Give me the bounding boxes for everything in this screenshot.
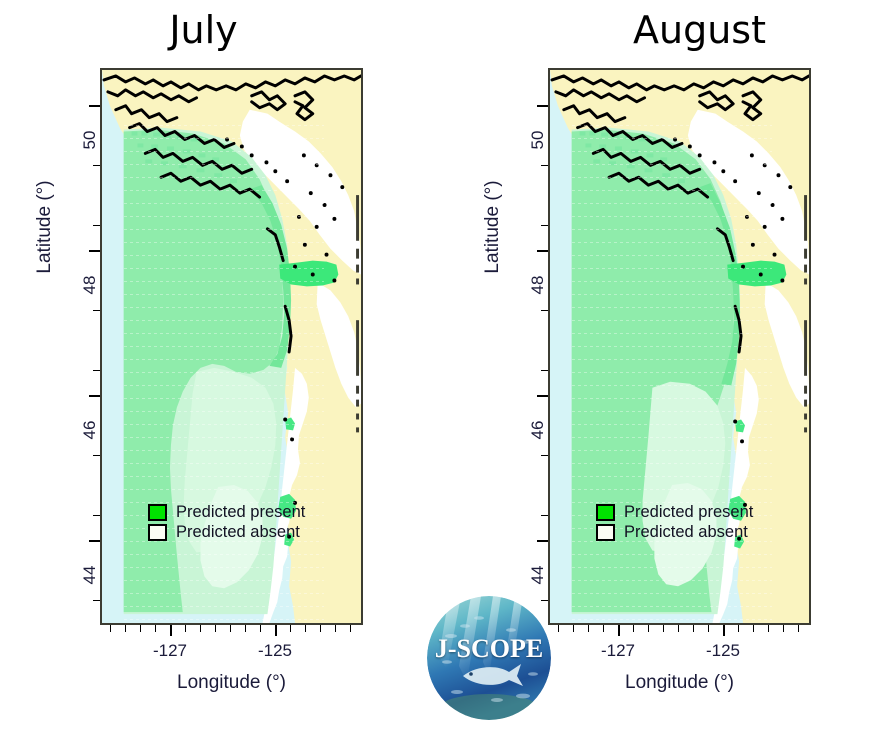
x-tick-minor <box>245 625 246 632</box>
y-tick-minor <box>93 225 100 226</box>
panel-title-july: July <box>0 8 427 52</box>
x-tick-label-125: -125 <box>706 641 740 661</box>
plot-frame-august: Predicted present Predicted absent <box>548 68 811 625</box>
x-axis-title-august: Longitude (°) <box>548 672 811 694</box>
legend-row-present: Predicted present <box>148 504 305 521</box>
x-tick-125 <box>723 625 725 636</box>
x-tick-minor <box>335 625 336 632</box>
x-tick-127 <box>618 625 620 636</box>
x-tick-minor <box>768 625 769 632</box>
legend-august: Predicted present Predicted absent <box>596 504 753 541</box>
y-tick-minor <box>541 600 548 601</box>
y-tick-50 <box>89 105 100 107</box>
panel-title-august: August <box>476 8 895 52</box>
legend-swatch-present <box>148 504 167 521</box>
y-tick-minor <box>541 370 548 371</box>
x-tick-minor <box>110 625 111 632</box>
y-tick-50 <box>537 105 548 107</box>
y-tick-label-48: 48 <box>528 269 548 301</box>
y-tick-minor <box>93 370 100 371</box>
legend-label-present: Predicted present <box>624 504 753 521</box>
x-tick-minor <box>588 625 589 632</box>
x-tick-minor <box>260 625 261 632</box>
x-tick-minor <box>708 625 709 632</box>
x-tick-minor <box>320 625 321 632</box>
x-tick-minor <box>678 625 679 632</box>
x-tick-minor <box>155 625 156 632</box>
y-tick-minor <box>93 515 100 516</box>
legend-row-absent: Predicted absent <box>596 524 753 541</box>
y-tick-46 <box>89 395 100 397</box>
y-tick-48 <box>537 250 548 252</box>
y-tick-minor <box>541 310 548 311</box>
legend-swatch-absent <box>148 524 167 541</box>
x-tick-125 <box>275 625 277 636</box>
y-tick-label-46: 46 <box>528 414 548 446</box>
y-tick-minor <box>93 600 100 601</box>
y-tick-46 <box>537 395 548 397</box>
x-tick-label-125: -125 <box>258 641 292 661</box>
plot-frame-july: Predicted present Predicted absent <box>100 68 363 625</box>
y-tick-44 <box>89 540 100 542</box>
x-tick-minor <box>648 625 649 632</box>
present-juan-de-fuca-tongue <box>727 261 786 287</box>
x-tick-label-127: -127 <box>153 641 187 661</box>
legend-july: Predicted present Predicted absent <box>148 504 305 541</box>
y-axis-title-july: Latitude (°) <box>34 107 56 347</box>
x-tick-minor <box>200 625 201 632</box>
y-tick-44 <box>537 540 548 542</box>
x-tick-minor <box>125 625 126 632</box>
x-tick-minor <box>215 625 216 632</box>
x-tick-minor <box>738 625 739 632</box>
x-axis-title-july: Longitude (°) <box>100 672 363 694</box>
panel-july: July <box>0 0 447 730</box>
legend-row-present: Predicted present <box>596 504 753 521</box>
legend-swatch-present <box>596 504 615 521</box>
y-tick-label-46: 46 <box>80 414 100 446</box>
x-tick-label-127: -127 <box>601 641 635 661</box>
y-tick-minor <box>93 310 100 311</box>
y-tick-label-44: 44 <box>80 559 100 591</box>
x-tick-minor <box>603 625 604 632</box>
y-tick-minor <box>541 225 548 226</box>
x-tick-minor <box>558 625 559 632</box>
x-tick-minor <box>230 625 231 632</box>
present-juan-de-fuca-tongue <box>279 261 338 287</box>
jscope-logo: J-SCOPE <box>427 596 551 720</box>
legend-label-absent: Predicted absent <box>624 524 748 541</box>
y-tick-label-48: 48 <box>80 269 100 301</box>
y-tick-label-50: 50 <box>528 124 548 156</box>
x-tick-minor <box>140 625 141 632</box>
y-tick-label-44: 44 <box>528 559 548 591</box>
y-axis-title-august: Latitude (°) <box>482 107 504 347</box>
x-tick-minor <box>290 625 291 632</box>
legend-swatch-absent <box>596 524 615 541</box>
legend-label-absent: Predicted absent <box>176 524 300 541</box>
x-tick-minor <box>798 625 799 632</box>
x-tick-minor <box>350 625 351 632</box>
y-tick-minor <box>93 455 100 456</box>
jscope-logo-text: J-SCOPE <box>427 634 551 664</box>
x-tick-minor <box>693 625 694 632</box>
x-tick-minor <box>663 625 664 632</box>
x-tick-127 <box>170 625 172 636</box>
x-tick-minor <box>305 625 306 632</box>
x-tick-minor <box>633 625 634 632</box>
x-tick-minor <box>783 625 784 632</box>
y-tick-minor <box>93 165 100 166</box>
y-tick-48 <box>89 250 100 252</box>
y-tick-minor <box>541 455 548 456</box>
y-tick-minor <box>541 165 548 166</box>
y-tick-minor <box>541 515 548 516</box>
y-tick-label-50: 50 <box>80 124 100 156</box>
x-tick-minor <box>185 625 186 632</box>
legend-label-present: Predicted present <box>176 504 305 521</box>
legend-row-absent: Predicted absent <box>148 524 305 541</box>
x-tick-minor <box>753 625 754 632</box>
x-tick-minor <box>573 625 574 632</box>
